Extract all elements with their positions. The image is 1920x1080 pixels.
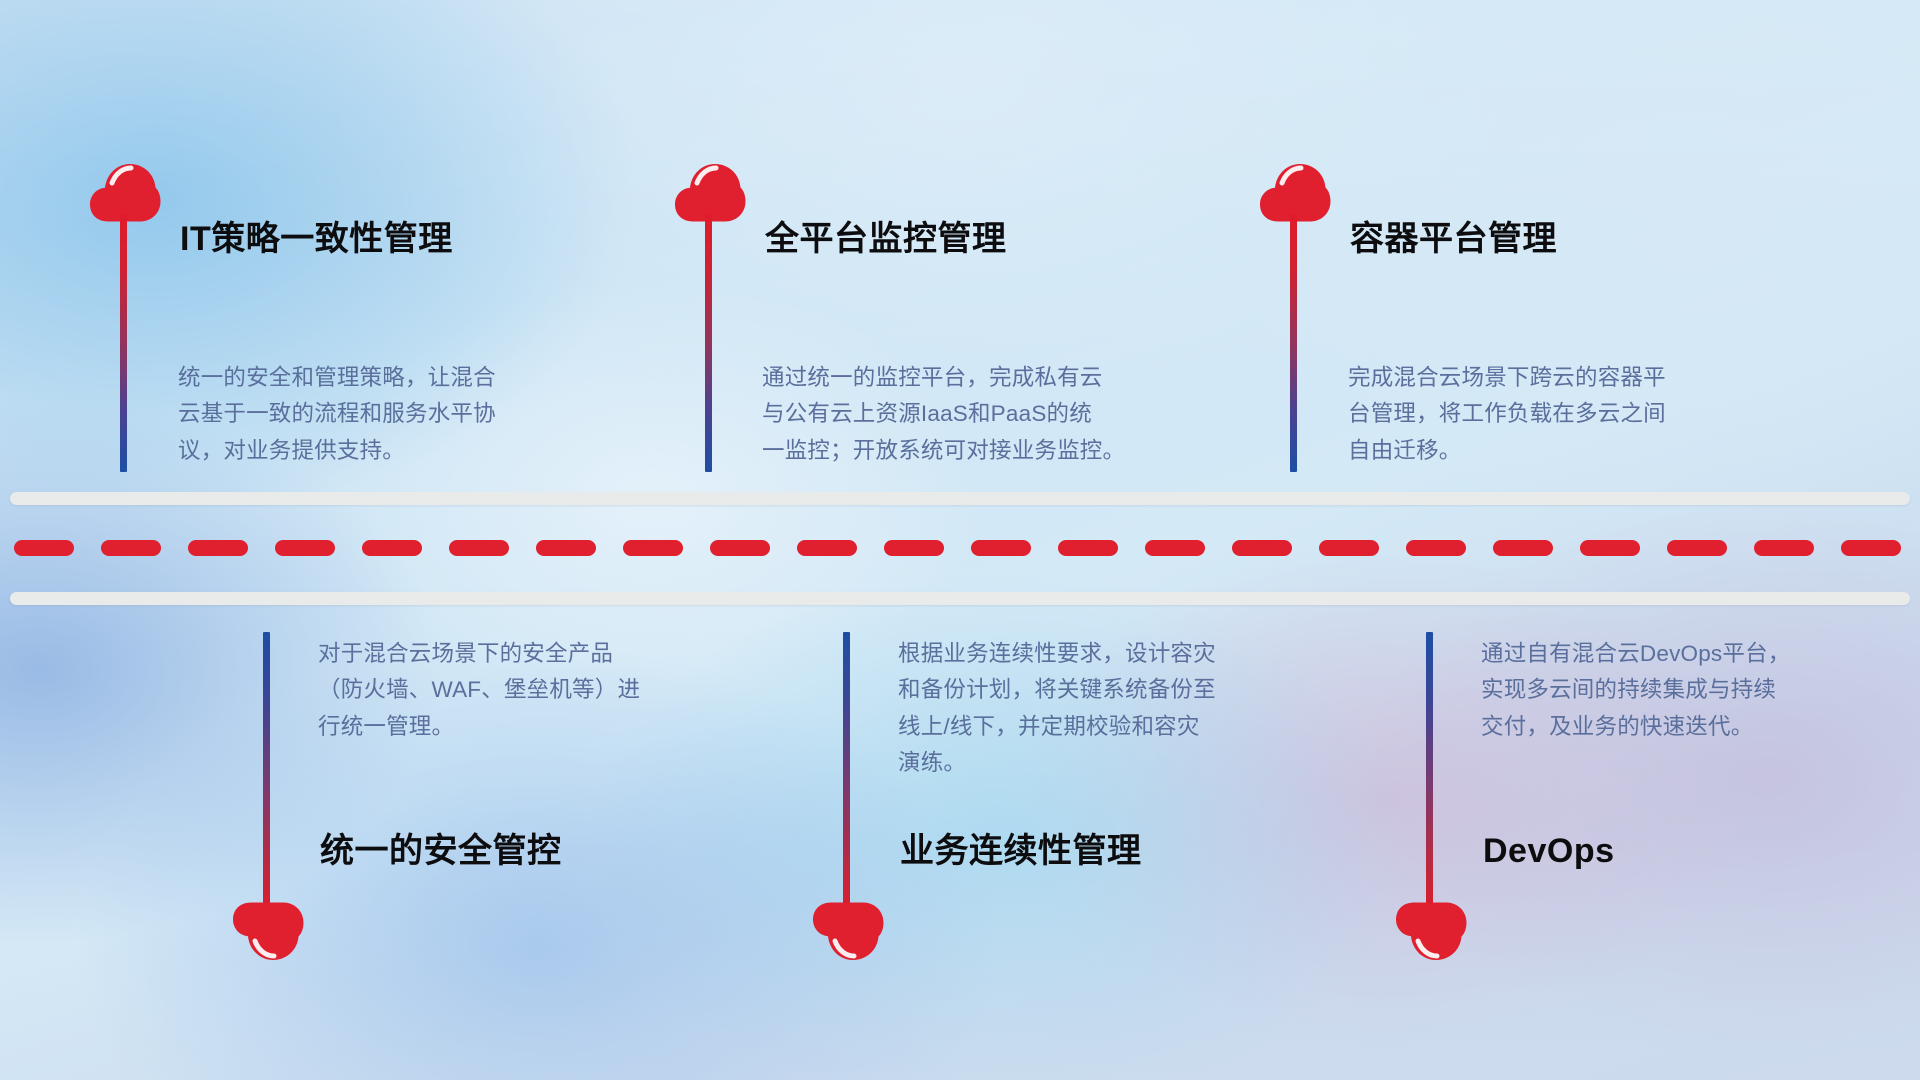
pin-line-top-1 bbox=[120, 214, 127, 472]
divider-dash bbox=[1493, 540, 1553, 556]
pin-line-bottom-1 bbox=[263, 632, 270, 914]
divider-rail-top bbox=[10, 492, 1910, 505]
divider-dash bbox=[14, 540, 74, 556]
card-body-top-2: 通过统一的监控平台，完成私有云 与公有云上资源IaaS和PaaS的统 一监控；开… bbox=[762, 360, 1232, 469]
card-body-bottom-1: 对于混合云场景下的安全产品 （防火墙、WAF、堡垒机等）进 行统一管理。 bbox=[318, 636, 748, 745]
divider-dash bbox=[1232, 540, 1292, 556]
card-title-top-2: 全平台监控管理 bbox=[765, 221, 1007, 258]
card-title-bottom-1: 统一的安全管控 bbox=[320, 833, 562, 870]
divider-dash bbox=[971, 540, 1031, 556]
cloud-icon-bottom-1 bbox=[231, 900, 305, 966]
divider-dash bbox=[188, 540, 248, 556]
card-title-bottom-2: 业务连续性管理 bbox=[900, 833, 1142, 870]
divider-dash bbox=[623, 540, 683, 556]
pin-line-bottom-3 bbox=[1426, 632, 1433, 914]
divider-dash bbox=[1754, 540, 1814, 556]
divider-dashed-line bbox=[0, 540, 1920, 556]
card-body-top-1: 统一的安全和管理策略，让混合 云基于一致的流程和服务水平协 议，对业务提供支持。 bbox=[178, 360, 618, 469]
card-body-bottom-2: 根据业务连续性要求，设计容灾 和备份计划，将关键系统备份至 线上/线下，并定期校… bbox=[898, 636, 1338, 782]
card-title-top-1: IT策略一致性管理 bbox=[180, 221, 453, 258]
card-body-top-3: 完成混合云场景下跨云的容器平 台管理，将工作负载在多云之间 自由迁移。 bbox=[1348, 360, 1798, 469]
divider-dash bbox=[710, 540, 770, 556]
infographic-stage: IT策略一致性管理 统一的安全和管理策略，让混合 云基于一致的流程和服务水平协 … bbox=[0, 0, 1920, 1080]
divider-dash bbox=[797, 540, 857, 556]
card-body-bottom-3: 通过自有混合云DevOps平台， 实现多云间的持续集成与持续 交付，及业务的快速… bbox=[1481, 636, 1901, 745]
divider-dash bbox=[1319, 540, 1379, 556]
divider-rail-bottom bbox=[10, 592, 1910, 605]
divider-dash bbox=[275, 540, 335, 556]
divider-dash bbox=[1058, 540, 1118, 556]
card-title-top-3: 容器平台管理 bbox=[1350, 221, 1557, 258]
divider-dash bbox=[1580, 540, 1640, 556]
pin-line-top-3 bbox=[1290, 214, 1297, 472]
cloud-icon-bottom-3 bbox=[1394, 900, 1468, 966]
divider-dash bbox=[1145, 540, 1205, 556]
divider-dash bbox=[536, 540, 596, 556]
divider-dash bbox=[101, 540, 161, 556]
divider-dash bbox=[362, 540, 422, 556]
divider-dash bbox=[1667, 540, 1727, 556]
pin-line-top-2 bbox=[705, 214, 712, 472]
divider-dash bbox=[449, 540, 509, 556]
divider-band bbox=[0, 492, 1920, 612]
cloud-icon-bottom-2 bbox=[811, 900, 885, 966]
divider-dash bbox=[1406, 540, 1466, 556]
divider-dash bbox=[884, 540, 944, 556]
pin-line-bottom-2 bbox=[843, 632, 850, 914]
divider-dash bbox=[1841, 540, 1901, 556]
card-title-bottom-3: DevOps bbox=[1483, 833, 1615, 870]
